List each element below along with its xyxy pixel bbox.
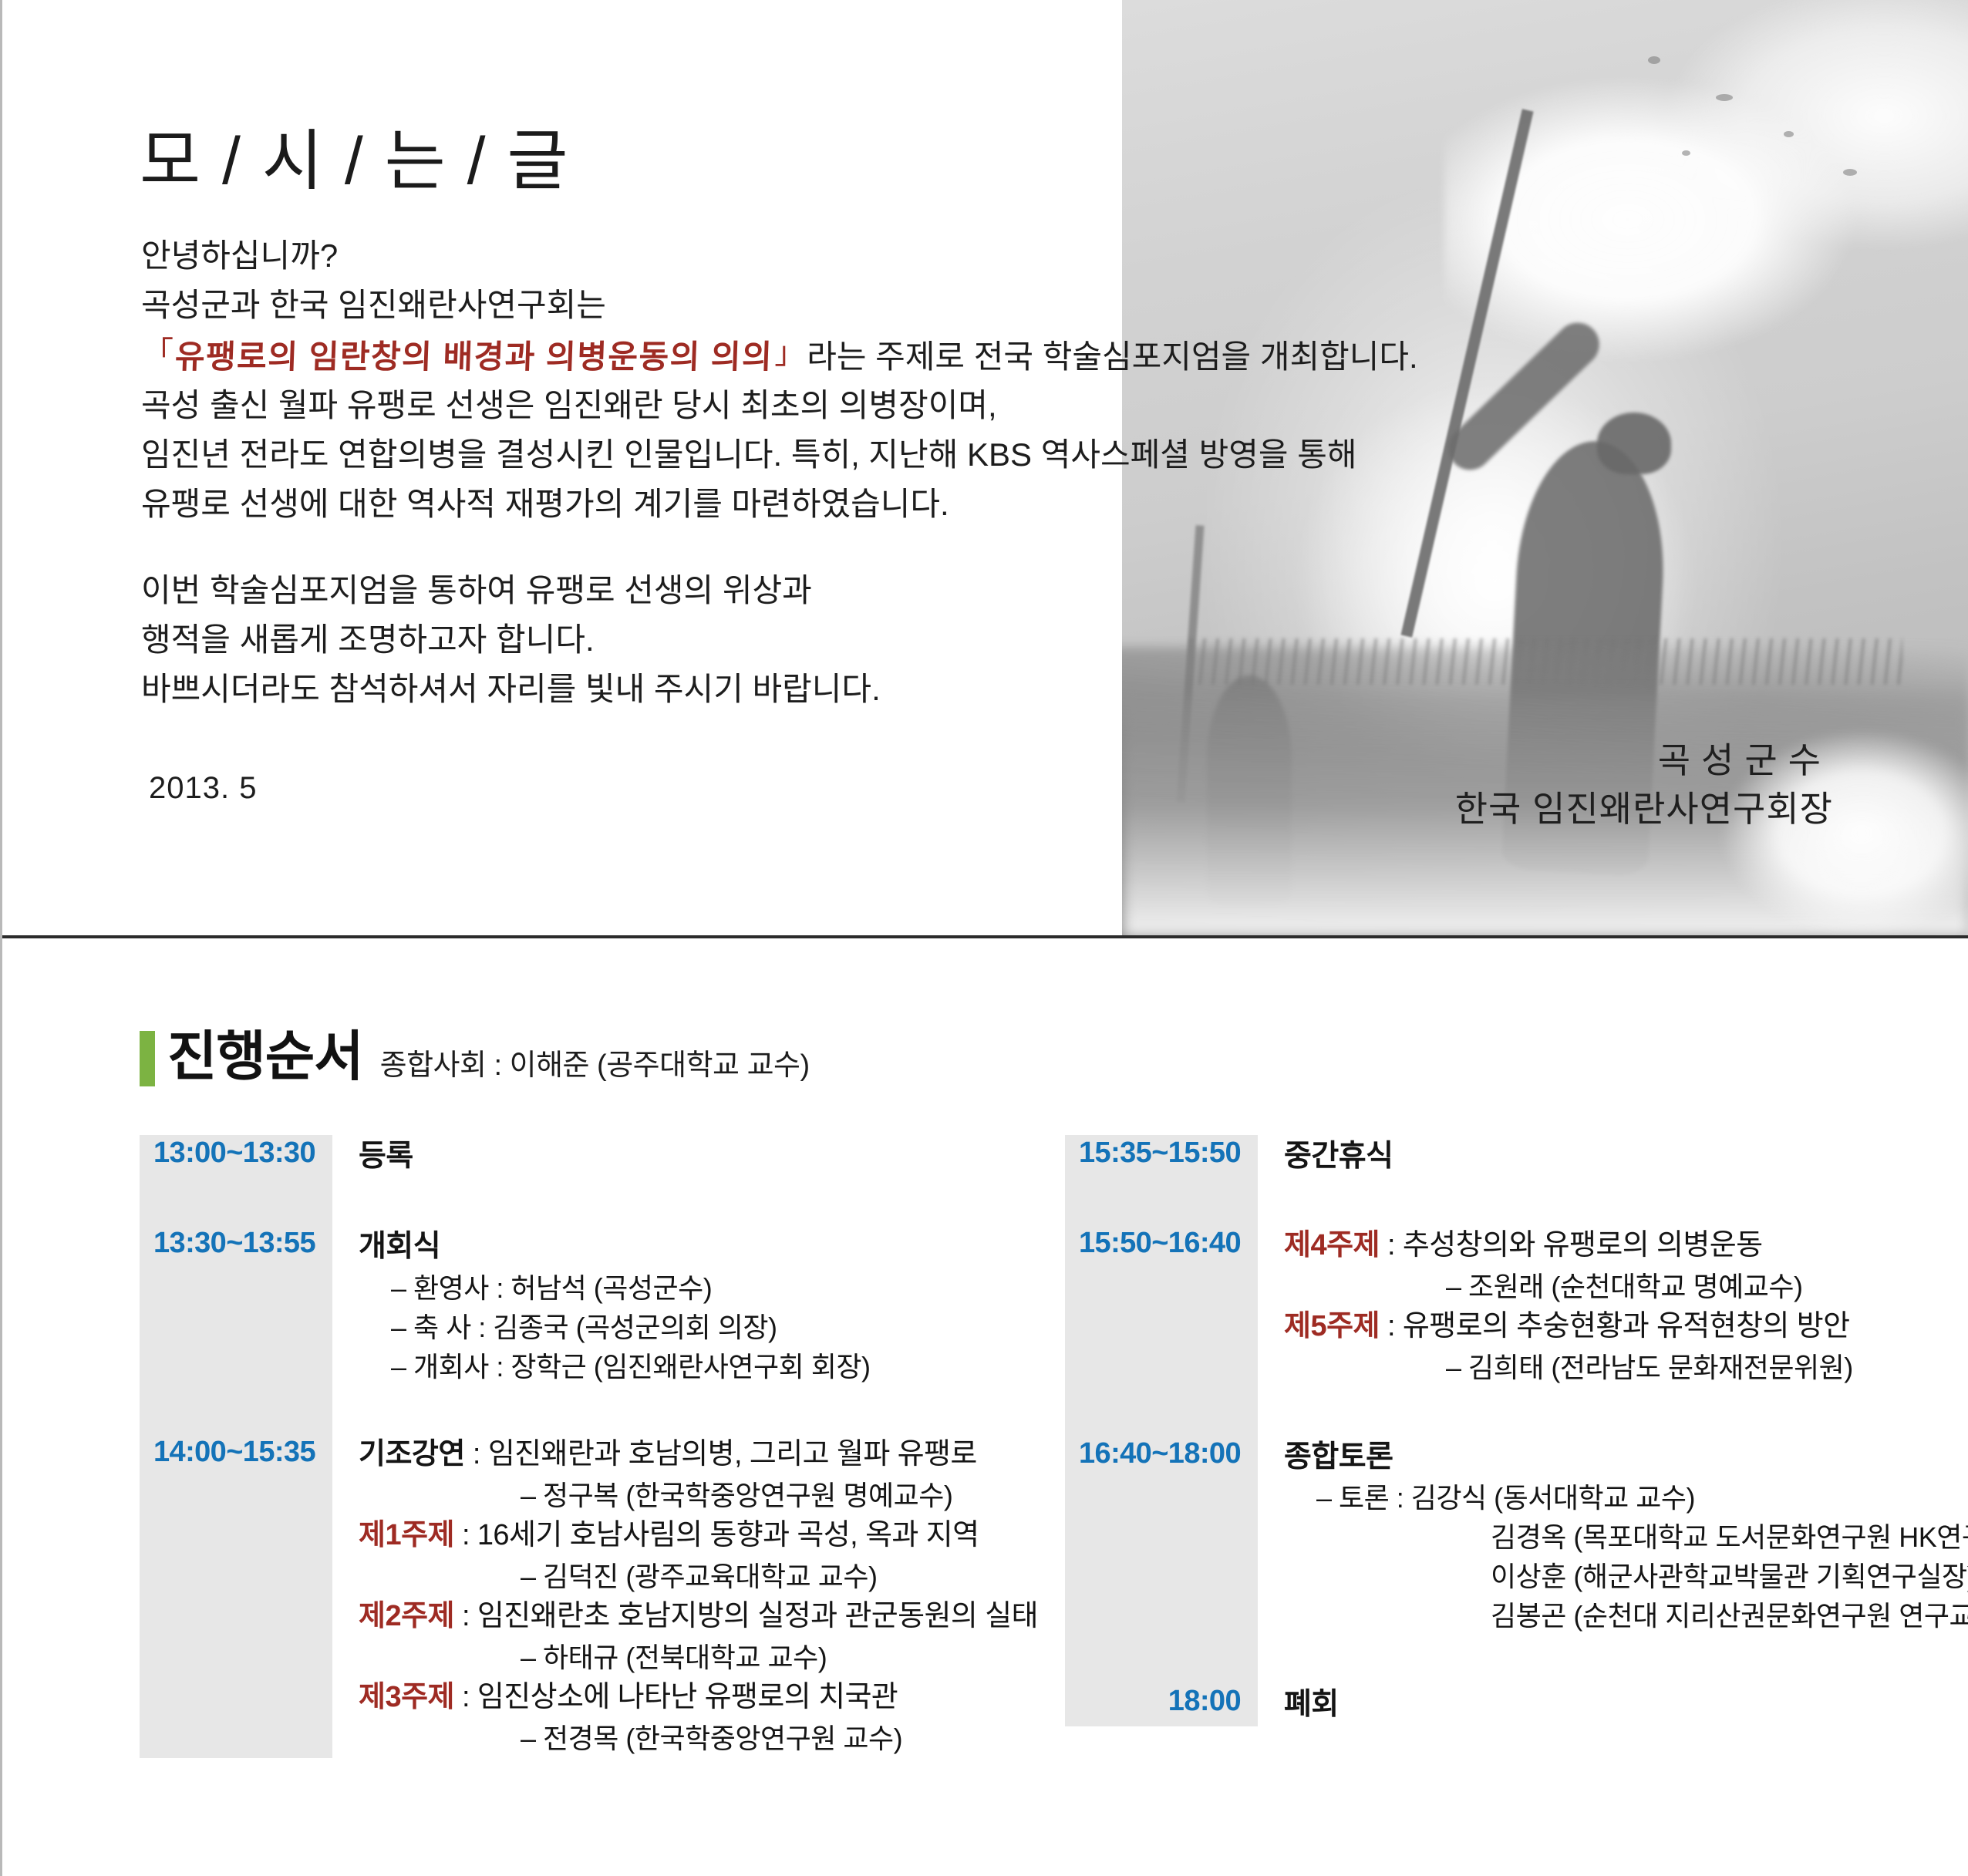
theme-tail-text: 라는 주제로 전국 학술심포지엄을 개최합니다. [807,338,1418,375]
schedule-time: 13:30~13:55 [140,1225,332,1262]
event-subline: – 김희태 (전라남도 문화재전문위원) [1284,1348,1960,1387]
event-title: 종합토론 [1284,1436,1968,1478]
event-subline: – 토론 : 김강식 (동서대학교 교수) [1284,1478,1968,1517]
schedule-row: 15:35~15:50중간휴식 [1065,1135,1960,1177]
greeting-line-2: 곡성군과 한국 임진왜란사연구회는 [141,281,1390,330]
schedule-detail: 중간휴식 [1258,1135,1960,1177]
keynote-text: : 임진왜란과 호남의병, 그리고 월파 유팽로 [473,1438,977,1470]
greeting-section: 모 / 시 / 는 / 글 안녕하십니까? 곡성군과 한국 임진왜란사연구회는 … [2,0,1968,938]
schedule-detail: 기조강연 : 임진왜란과 호남의병, 그리고 월파 유팽로– 정구복 (한국학중… [332,1434,1038,1758]
schedule-column-left: 13:00~13:30등록13:30~13:55개회식– 환영사 : 허남석 (… [140,1135,1019,1758]
schedule-time: 15:50~16:40 [1065,1225,1258,1262]
topic-label: 제4주제 [1284,1229,1380,1261]
schedule-detail: 개회식– 환영사 : 허남석 (곡성군수)– 축 사 : 김종국 (곡성군의회 … [332,1225,1019,1386]
topic-line: 제4주제 : 추성창의와 유팽로의 의병운동 [1284,1225,1960,1267]
event-subline: – 정구복 (한국학중앙연구원 명예교수) [359,1476,1038,1515]
schedule-detail: 등록 [332,1135,1019,1177]
event-subline: – 김덕진 (광주교육대학교 교수) [359,1557,1038,1596]
schedule-row: 14:00~15:35기조강연 : 임진왜란과 호남의병, 그리고 월파 유팽로… [140,1434,1019,1758]
schedule-row: 15:50~16:40제4주제 : 추성창의와 유팽로의 의병운동– 조원래 (… [1065,1225,1960,1387]
schedule-row: 16:40~18:00종합토론– 토론 : 김강식 (동서대학교 교수)김경옥 … [1065,1436,1960,1636]
schedule-detail: 종합토론– 토론 : 김강식 (동서대학교 교수)김경옥 (목포대학교 도서문화… [1258,1436,1968,1636]
schedule-time: 14:00~15:35 [140,1434,332,1471]
schedule-time: 15:35~15:50 [1065,1135,1258,1172]
signature-block: 곡성군수 한국 임진왜란사연구회장 [1455,736,1833,834]
paragraph-gap [141,529,1390,566]
ink-speckle [1682,150,1690,156]
greeting-line-8: 행적을 새롭게 조명하고자 합니다. [141,615,1390,665]
event-subline: – 환영사 : 허남석 (곡성군수) [359,1268,1019,1308]
topic-text: : 유팽로의 추숭현황과 유적현창의 방안 [1380,1310,1850,1342]
schedule-time: 16:40~18:00 [1065,1436,1258,1473]
moderator-label: 종합사회 : 이해준 (공주대학교 교수) [380,1041,810,1083]
theme-open-quote: 「 [141,336,175,370]
keynote-label: 기조강연 [359,1438,473,1470]
greeting-line-7: 이번 학술심포지엄을 통하여 유팽로 선생의 위상과 [141,566,1390,615]
schedule-title: 진행순서 [167,1029,363,1083]
schedule-rows-left: 13:00~13:30등록13:30~13:55개회식– 환영사 : 허남석 (… [140,1135,1019,1758]
event-title: 폐회 [1284,1683,1960,1726]
ink-speckle [1843,169,1857,176]
greeting-body-text: 안녕하십니까? 곡성군과 한국 임진왜란사연구회는 「유팽로의 임란창의 배경과… [141,231,1390,713]
topic-text: : 추성창의와 유팽로의 의병운동 [1380,1229,1762,1261]
symposium-theme-title: 유팽로의 임란창의 배경과 의병운동의 의의 [174,332,773,382]
schedule-column-right: 15:35~15:50중간휴식15:50~16:40제4주제 : 추성창의와 유… [1065,1135,1960,1726]
greeting-line-9: 바쁘시더라도 참석하셔서 자리를 빛내 주시기 바랍니다. [141,665,1390,714]
event-subline: – 개회사 : 장학근 (임진왜란사연구회 회장) [359,1347,1019,1386]
greeting-line-6: 유팽로 선생에 대한 역사적 재평가의 계기를 마련하였습니다. [141,480,1390,529]
event-subline: – 축 사 : 김종국 (곡성군의회 의장) [359,1308,1019,1347]
symposium-invitation-poster: 모 / 시 / 는 / 글 안녕하십니까? 곡성군과 한국 임진왜란사연구회는 … [0,0,1968,1876]
keynote-line: 기조강연 : 임진왜란과 호남의병, 그리고 월파 유팽로 [359,1434,1038,1476]
schedule-detail: 폐회 [1258,1683,1960,1726]
topic-line: 제1주제 : 16세기 호남사림의 동향과 곡성, 옥과 지역 [359,1515,1038,1557]
signature-line-1: 곡성군수 [1455,736,1833,785]
schedule-section: 진행순서 종합사회 : 이해준 (공주대학교 교수) 13:00~13:30등록… [2,938,1968,1876]
event-title: 개회식 [359,1225,1019,1268]
event-subline: – 조원래 (순천대학교 명예교수) [1284,1267,1960,1306]
ink-wash-top [1444,0,1968,375]
topic-label: 제3주제 [359,1681,454,1713]
event-subline: – 전경목 (한국학중앙연구원 교수) [359,1719,1038,1758]
topic-label: 제2주제 [359,1600,454,1632]
schedule-row: 13:30~13:55개회식– 환영사 : 허남석 (곡성군수)– 축 사 : … [140,1225,1019,1386]
event-subline: 김경옥 (목포대학교 도서문화연구원 HK연구교수) [1284,1517,1968,1557]
time-rail-right [1065,1135,1258,1726]
greeting-line-5: 임진년 전라도 연합의병을 결성시킨 인물입니다. 특히, 지난해 KBS 역사… [141,430,1390,480]
topic-text: : 임진왜란초 호남지방의 실정과 관군동원의 실태 [454,1600,1038,1632]
event-subline: – 하태규 (전북대학교 교수) [359,1638,1038,1677]
schedule-time: 18:00 [1065,1683,1258,1720]
theme-close-quote: 」 [773,336,807,370]
symposium-theme-line: 「유팽로의 임란창의 배경과 의병운동의 의의」라는 주제로 전국 학술심포지엄… [141,330,1390,382]
topic-label: 제1주제 [359,1519,454,1551]
event-title: 중간휴식 [1284,1135,1960,1177]
warrior-helmet [1597,413,1671,474]
schedule-time: 13:00~13:30 [140,1135,332,1172]
topic-text: : 16세기 호남사림의 동향과 곡성, 옥과 지역 [454,1519,979,1551]
schedule-detail: 제4주제 : 추성창의와 유팽로의 의병운동– 조원래 (순천대학교 명예교수)… [1258,1225,1960,1387]
page-title: 모 / 시 / 는 / 글 [140,106,570,203]
topic-line: 제3주제 : 임진상소에 나타난 유팽로의 치국관 [359,1677,1038,1719]
schedule-heading: 진행순서 종합사회 : 이해준 (공주대학교 교수) [140,1029,810,1083]
event-title: 등록 [359,1135,1019,1177]
ink-speckle [1648,56,1660,64]
greeting-line-1: 안녕하십니까? [141,231,1390,281]
greeting-date: 2013. 5 [149,771,257,806]
ink-speckle [1716,94,1733,101]
schedule-row: 18:00폐회 [1065,1683,1960,1726]
event-subline: 이상훈 (해군사관학교박물관 기획연구실장) [1284,1557,1968,1596]
topic-line: 제2주제 : 임진왜란초 호남지방의 실정과 관군동원의 실태 [359,1596,1038,1638]
signature-line-2: 한국 임진왜란사연구회장 [1455,785,1833,834]
topic-text: : 임진상소에 나타난 유팽로의 치국관 [454,1681,898,1713]
greeting-line-4: 곡성 출신 월파 유팽로 선생은 임진왜란 당시 최초의 의병장이며, [141,381,1390,430]
schedule-row: 13:00~13:30등록 [140,1135,1019,1177]
event-subline: 김봉곤 (순천대 지리산권문화연구원 연구교수) [1284,1596,1968,1635]
topic-label: 제5주제 [1284,1310,1380,1342]
topic-line: 제5주제 : 유팽로의 추숭현황과 유적현창의 방안 [1284,1306,1960,1348]
